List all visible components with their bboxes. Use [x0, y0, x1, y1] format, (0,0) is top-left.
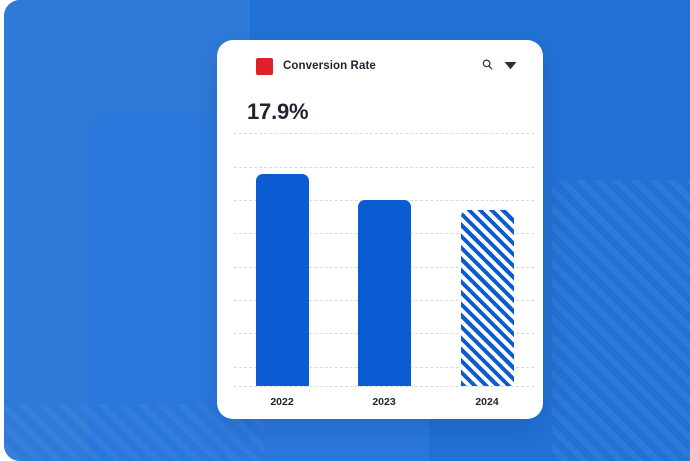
- conversion-rate-card: Conversion Rate 17.9%: [217, 40, 543, 419]
- bar-2023[interactable]: [358, 200, 411, 386]
- x-axis-label-2023: 2023: [354, 396, 414, 408]
- card-header: Conversion Rate: [217, 40, 543, 92]
- chevron-down-icon[interactable]: [504, 57, 517, 75]
- background-hatch-block-right: [552, 180, 690, 461]
- card-header-tools: [482, 57, 517, 75]
- legend-swatch-icon: [256, 58, 273, 75]
- search-icon[interactable]: [482, 57, 493, 75]
- x-axis-label-2022: 2022: [252, 396, 312, 408]
- metric-value: 17.9%: [247, 99, 308, 125]
- bar-2022[interactable]: [256, 174, 309, 386]
- x-axis-label-2024: 2024: [457, 396, 517, 408]
- legend-label: Conversion Rate: [283, 60, 376, 72]
- blue-canvas: Conversion Rate 17.9%: [4, 0, 690, 461]
- bar-2024[interactable]: [461, 210, 514, 386]
- chart-x-axis: 2022 2023 2024: [234, 396, 534, 419]
- screenshot-root: Conversion Rate 17.9%: [0, 0, 690, 461]
- bar-chart: 2022 2023 2024: [234, 130, 534, 419]
- chart-bars: [234, 130, 534, 419]
